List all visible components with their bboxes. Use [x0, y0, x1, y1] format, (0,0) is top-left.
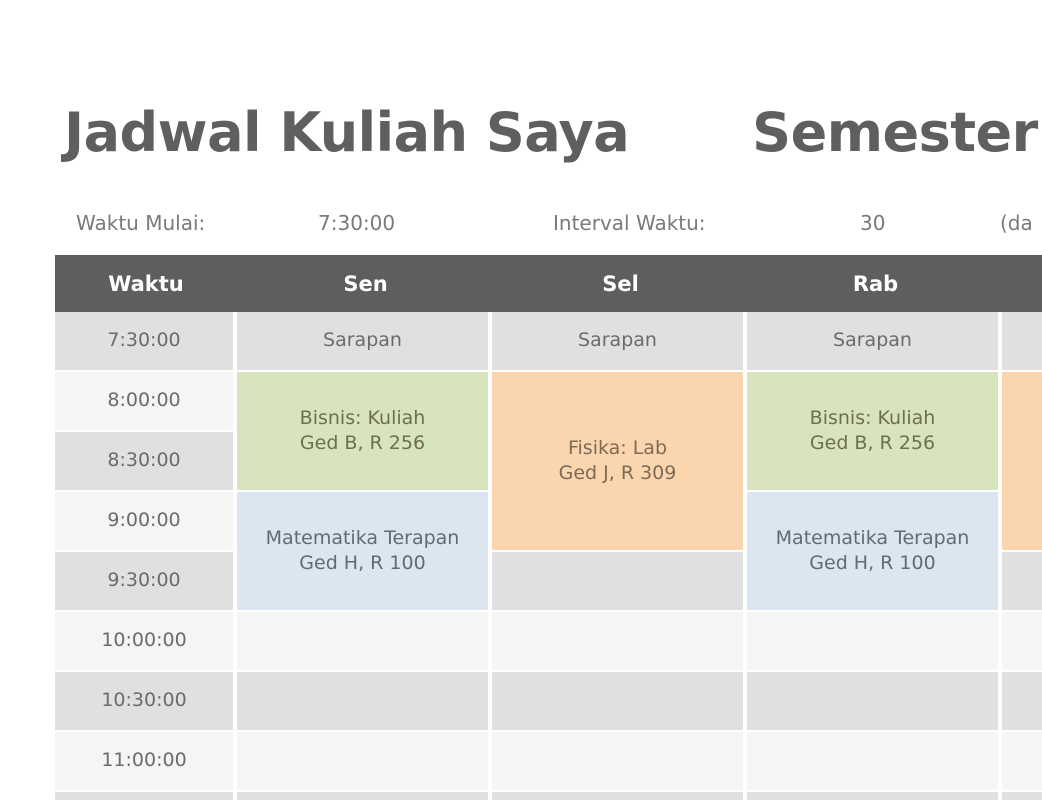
empty-cell[interactable]	[1002, 732, 1042, 792]
event-cell[interactable]: Fisika: LabGed J, R 309	[492, 372, 747, 552]
title-row: Jadwal Kuliah SayaSemester	[64, 97, 1042, 173]
event-title: Matematika Terapan	[237, 526, 488, 551]
event-title: Bisnis: Kuliah	[237, 406, 488, 431]
event-location: Ged B, R 256	[237, 431, 488, 456]
empty-cell[interactable]	[747, 672, 1002, 732]
event-title: Matematika Terapan	[747, 526, 998, 551]
page-title: Jadwal Kuliah Saya	[64, 97, 629, 169]
table-row: 11:30:00	[55, 792, 1042, 800]
time-cell: 11:30:00	[55, 792, 237, 800]
event-cell[interactable]: Matematika TerapanGed H, R 100	[747, 492, 1002, 612]
time-cell: 7:30:00	[55, 312, 237, 372]
time-cell: 8:30:00	[55, 432, 237, 492]
column-header-rab[interactable]: Rab	[747, 255, 1002, 312]
empty-cell[interactable]	[492, 612, 747, 672]
interval-label: Interval Waktu:	[553, 206, 706, 240]
empty-cell[interactable]	[492, 552, 747, 612]
event-location: Ged H, R 100	[237, 551, 488, 576]
start-time-label: Waktu Mulai:	[76, 206, 205, 240]
column-header-waktu[interactable]: Waktu	[55, 255, 237, 312]
empty-cell[interactable]	[1002, 372, 1042, 552]
table-header-row: Waktu Sen Sel Rab Kam	[55, 255, 1042, 312]
event-title: Bisnis: Kuliah	[747, 406, 998, 431]
empty-cell[interactable]	[1002, 612, 1042, 672]
settings-row: Waktu Mulai: 7:30:00 Interval Waktu: 30 …	[0, 206, 1042, 240]
empty-cell[interactable]	[237, 612, 492, 672]
empty-cell[interactable]	[747, 792, 1002, 800]
event-cell[interactable]: Matematika TerapanGed H, R 100	[237, 492, 492, 612]
empty-cell[interactable]	[492, 792, 747, 800]
empty-cell[interactable]	[237, 792, 492, 800]
time-cell: 8:00:00	[55, 372, 237, 432]
empty-cell[interactable]	[237, 672, 492, 732]
schedule-table: Waktu Sen Sel Rab Kam 7:30:00SarapanSara…	[55, 255, 1042, 800]
event-cell[interactable]: Sarapan	[492, 312, 747, 372]
schedule-body: 7:30:00SarapanSarapanSarapanSarapan8:00:…	[55, 312, 1042, 800]
column-header-kam[interactable]: Kam	[1002, 255, 1042, 312]
event-location: Ged B, R 256	[747, 431, 998, 456]
interval-unit-note: (da	[1000, 206, 1033, 240]
schedule-page: Jadwal Kuliah SayaSemester Waktu Mulai: …	[0, 0, 1042, 800]
interval-value[interactable]: 30	[860, 206, 885, 240]
event-location: Ged J, R 309	[492, 461, 743, 486]
empty-cell[interactable]	[747, 732, 1002, 792]
event-cell[interactable]: Sarapan	[237, 312, 492, 372]
table-row: 11:00:00	[55, 732, 1042, 792]
empty-cell[interactable]	[492, 672, 747, 732]
column-header-sel[interactable]: Sel	[492, 255, 747, 312]
event-cell[interactable]: Bisnis: KuliahGed B, R 256	[747, 372, 1002, 492]
empty-cell[interactable]	[1002, 792, 1042, 800]
empty-cell[interactable]	[747, 612, 1002, 672]
empty-cell[interactable]	[237, 732, 492, 792]
table-row: 10:00:00	[55, 612, 1042, 672]
time-cell: 9:00:00	[55, 492, 237, 552]
event-title: Fisika: Lab	[492, 436, 743, 461]
time-cell: 9:30:00	[55, 552, 237, 612]
time-cell: 11:00:00	[55, 732, 237, 792]
event-cell[interactable]: Sarapan	[1002, 312, 1042, 372]
table-row: 8:00:00Bisnis: KuliahGed B, R 256Fisika:…	[55, 372, 1042, 432]
page-subtitle: Semester	[752, 97, 1038, 169]
start-time-value[interactable]: 7:30:00	[318, 206, 395, 240]
event-cell[interactable]: Bisnis: KuliahGed B, R 256	[237, 372, 492, 492]
event-cell[interactable]: Sarapan	[747, 312, 1002, 372]
column-header-sen[interactable]: Sen	[237, 255, 492, 312]
table-row: 7:30:00SarapanSarapanSarapanSarapan	[55, 312, 1042, 372]
empty-cell[interactable]	[1002, 672, 1042, 732]
time-cell: 10:30:00	[55, 672, 237, 732]
time-cell: 10:00:00	[55, 612, 237, 672]
empty-cell[interactable]	[492, 732, 747, 792]
event-location: Ged H, R 100	[747, 551, 998, 576]
table-row: 10:30:00	[55, 672, 1042, 732]
empty-cell[interactable]	[1002, 552, 1042, 612]
